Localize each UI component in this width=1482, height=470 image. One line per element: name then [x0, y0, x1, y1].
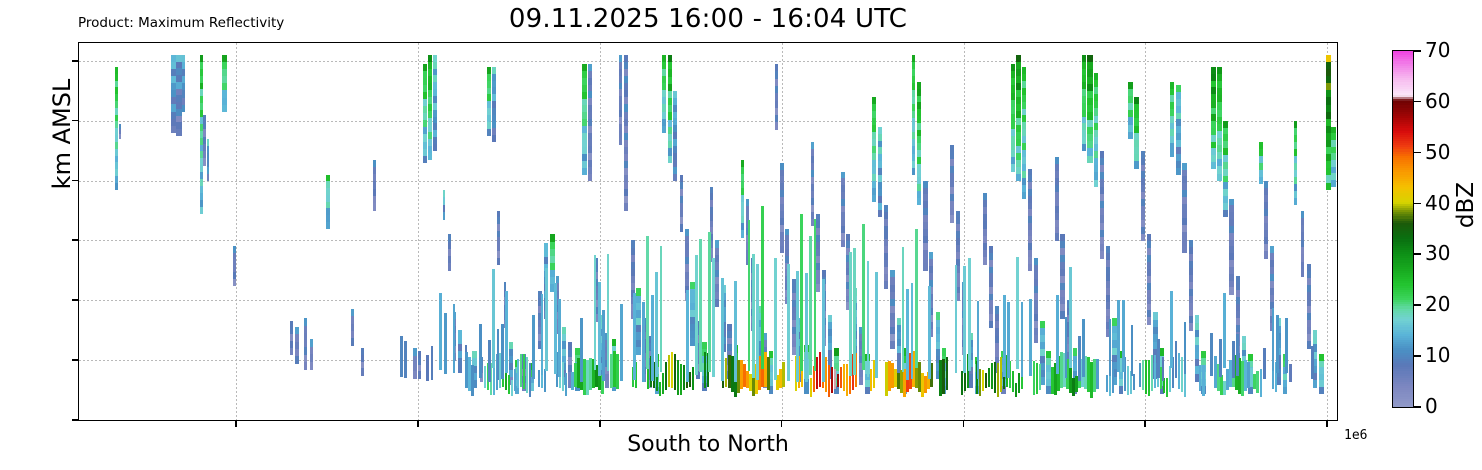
reflectivity-cell — [660, 246, 663, 372]
reflectivity-cell — [594, 255, 597, 370]
reflectivity-cell — [846, 364, 848, 396]
reflectivity-cell — [746, 371, 748, 388]
reflectivity-cell — [1028, 264, 1032, 271]
reflectivity-column — [458, 43, 462, 420]
reflectivity-cell — [1141, 234, 1145, 242]
reflectivity-cell — [994, 362, 996, 393]
reflectivity-cell — [571, 372, 573, 390]
reflectivity-cell — [1128, 132, 1132, 140]
reflectivity-column — [897, 43, 901, 420]
reflectivity-cell — [605, 380, 609, 387]
reflectivity-cell — [1219, 339, 1222, 378]
reflectivity-cell — [583, 359, 585, 395]
reflectivity-cell — [917, 198, 921, 205]
y-tick-mark — [72, 359, 78, 361]
reflectivity-cell — [834, 369, 836, 389]
reflectivity-cell — [961, 371, 963, 396]
reflectivity-cell — [577, 358, 579, 388]
reflectivity-cell — [740, 360, 742, 389]
reflectivity-cell — [853, 248, 856, 375]
colorbar-tick-label: 50 — [1425, 140, 1450, 164]
reflectivity-cell — [1301, 269, 1305, 277]
reflectivity-cell — [488, 340, 491, 382]
reflectivity-cell — [310, 362, 312, 370]
reflectivity-cell — [439, 293, 442, 370]
reflectivity-cell — [1021, 302, 1024, 377]
reflectivity-cell — [1015, 383, 1017, 397]
reflectivity-cell — [767, 357, 769, 390]
reflectivity-cell — [1119, 386, 1123, 394]
reflectivity-column — [448, 43, 451, 420]
reflectivity-cell — [433, 144, 437, 151]
reflectivity-cell — [890, 341, 894, 349]
reflectivity-cell — [1094, 180, 1099, 188]
radar-profile-figure: Product: Maximum Reflectivity 09.11.2025… — [0, 0, 1482, 470]
reflectivity-cell — [837, 374, 839, 388]
reflectivity-cell — [982, 370, 984, 392]
reflectivity-cell — [796, 271, 799, 382]
reflectivity-cell — [1072, 378, 1074, 397]
reflectivity-cell — [326, 222, 330, 229]
reflectivity-cell — [1133, 374, 1135, 390]
reflectivity-cell — [900, 370, 902, 393]
reflectivity-cell — [404, 341, 407, 378]
reflectivity-cell — [819, 352, 821, 387]
reflectivity-cell — [721, 278, 724, 381]
reflectivity-cell — [787, 264, 790, 381]
reflectivity-cell — [517, 359, 519, 387]
reflectivity-cell — [487, 129, 491, 136]
reflectivity-cell — [728, 355, 730, 388]
reflectivity-cell — [775, 122, 778, 130]
reflectivity-cell — [1096, 359, 1098, 389]
reflectivity-cell — [1039, 364, 1041, 390]
reflectivity-cell — [1307, 341, 1311, 349]
reflectivity-cell — [589, 358, 591, 391]
reflectivity-cell — [290, 348, 293, 355]
reflectivity-cell — [662, 126, 666, 134]
reflectivity-column — [1201, 43, 1205, 420]
colorbar-tick-label: 10 — [1425, 343, 1450, 367]
reflectivity-cell — [1260, 369, 1262, 397]
reflectivity-cell — [1176, 168, 1181, 176]
reflectivity-cell — [1253, 374, 1255, 389]
y-tick-mark — [72, 180, 78, 182]
reflectivity-cell — [610, 354, 612, 388]
x-tick-mark — [1326, 421, 1328, 427]
reflectivity-cell — [1313, 380, 1317, 388]
reflectivity-cell — [1069, 368, 1071, 393]
reflectivity-cell — [689, 372, 691, 387]
reflectivity-cell — [867, 261, 870, 377]
reflectivity-cell — [1220, 375, 1222, 395]
reflectivity-cell — [642, 302, 645, 382]
x-tick-mark — [417, 421, 419, 427]
reflectivity-column — [878, 43, 882, 420]
colorbar-tick-mark — [1414, 304, 1421, 306]
reflectivity-cell — [1283, 387, 1287, 394]
reflectivity-cell — [968, 258, 971, 371]
reflectivity-cell — [1170, 150, 1174, 157]
reflectivity-cell — [859, 377, 863, 385]
y-tick-mark — [72, 239, 78, 241]
reflectivity-column — [418, 43, 421, 420]
reflectivity-cell — [1082, 144, 1087, 151]
reflectivity-cell — [1294, 198, 1297, 206]
colorbar-tick-label: 0 — [1425, 394, 1438, 418]
reflectivity-column — [1331, 43, 1335, 420]
reflectivity-cell — [1210, 333, 1213, 376]
reflectivity-cell — [708, 232, 711, 371]
reflectivity-column — [834, 43, 838, 420]
reflectivity-cell — [809, 236, 812, 375]
reflectivity-column — [351, 43, 354, 420]
reflectivity-column — [1195, 43, 1199, 420]
reflectivity-cell — [458, 365, 462, 373]
reflectivity-cell — [426, 355, 429, 381]
reflectivity-cell — [586, 360, 588, 395]
reflectivity-cell — [511, 380, 513, 396]
reflectivity-cell — [988, 368, 990, 387]
reflectivity-cell — [977, 301, 980, 379]
reflectivity-cell — [840, 367, 842, 388]
reflectivity-cell — [602, 310, 605, 381]
reflectivity-cell — [544, 369, 546, 392]
reflectivity-column — [983, 43, 987, 420]
reflectivity-cell — [921, 373, 923, 397]
colorbar[interactable] — [1392, 50, 1414, 408]
reflectivity-cell — [843, 364, 845, 391]
reflectivity-cell — [655, 272, 658, 376]
colorbar-tick-mark — [1414, 253, 1421, 255]
reflectivity-cell — [942, 359, 944, 395]
reflectivity-cell — [1117, 300, 1120, 372]
reflectivity-cell — [1056, 295, 1059, 374]
reflectivity-cell — [1003, 295, 1006, 377]
reflectivity-column — [1046, 43, 1050, 420]
reflectivity-cell — [991, 363, 993, 389]
reflectivity-cell — [1285, 318, 1288, 373]
reflectivity-cell — [1060, 352, 1062, 388]
reflectivity-cell — [222, 105, 227, 113]
reflectivity-cell — [373, 203, 377, 211]
reflectivity-cell — [624, 203, 628, 211]
reflectivity-column — [361, 43, 364, 420]
reflectivity-cell — [633, 293, 636, 380]
reflectivity-column — [1307, 43, 1311, 420]
reflectivity-cell — [351, 338, 354, 346]
reflectivity-column — [923, 43, 927, 420]
reflectivity-cell — [704, 352, 706, 388]
reflectivity-cell — [989, 321, 993, 328]
reflectivity-cell — [695, 255, 698, 375]
reflectivity-column — [1319, 43, 1323, 420]
plot-area[interactable] — [78, 42, 1338, 421]
reflectivity-cell — [1226, 369, 1228, 390]
reflectivity-cell — [443, 212, 446, 220]
reflectivity-cell — [468, 357, 470, 392]
reflectivity-cell — [715, 299, 719, 307]
reflectivity-cell — [955, 265, 958, 373]
reflectivity-cell — [1217, 174, 1222, 182]
x-axis-label: South to North — [78, 432, 1338, 457]
reflectivity-cell — [1236, 334, 1239, 377]
reflectivity-cell — [413, 371, 417, 379]
reflectivity-cell — [418, 371, 421, 378]
reflectivity-cell — [361, 368, 364, 375]
colorbar-tick-mark — [1414, 406, 1421, 408]
reflectivity-cell — [677, 360, 679, 394]
reflectivity-cell — [814, 219, 817, 371]
reflectivity-cell — [894, 369, 896, 387]
reflectivity-cell — [968, 380, 972, 387]
reflectivity-cell — [756, 264, 759, 380]
reflectivity-cell — [699, 239, 702, 372]
reflectivity-cell — [872, 195, 876, 203]
reflectivity-cell — [1154, 355, 1156, 388]
reflectivity-cell — [1229, 287, 1233, 294]
reflectivity-cell — [761, 206, 764, 369]
colorbar-tick-mark — [1414, 355, 1421, 357]
reflectivity-cell — [662, 373, 664, 394]
reflectivity-cell — [1199, 365, 1201, 391]
reflectivity-cell — [1082, 319, 1085, 377]
reflectivity-cell — [878, 210, 882, 218]
reflectivity-cell — [1016, 257, 1019, 369]
reflectivity-column — [828, 43, 832, 420]
reflectivity-cell — [671, 352, 673, 387]
reflectivity-cell — [888, 361, 890, 391]
reflectivity-cell — [1087, 357, 1089, 392]
reflectivity-cell — [902, 247, 905, 372]
reflectivity-cell — [928, 286, 931, 379]
colorbar-tick-mark — [1414, 152, 1421, 154]
reflectivity-cell — [588, 174, 592, 181]
reflectivity-cell — [1319, 387, 1323, 394]
reflectivity-cell — [1139, 363, 1141, 387]
reflectivity-cell — [1000, 357, 1002, 393]
reflectivity-cell — [774, 258, 777, 380]
reflectivity-cell — [207, 174, 210, 182]
reflectivity-cell — [1189, 323, 1193, 331]
reflectivity-cell — [233, 279, 236, 286]
reflectivity-cell — [1034, 335, 1038, 343]
reflectivity-cell — [1122, 300, 1125, 372]
reflectivity-cell — [532, 315, 535, 379]
reflectivity-cell — [918, 362, 920, 392]
reflectivity-cell — [1134, 161, 1138, 169]
reflectivity-cell — [906, 289, 909, 381]
reflectivity-cell — [1223, 210, 1228, 217]
reflectivity-cell — [1109, 319, 1112, 376]
reflectivity-cell — [1250, 368, 1252, 387]
reflectivity-cell — [737, 360, 739, 393]
reflectivity-cell — [497, 329, 500, 380]
reflectivity-cell — [1184, 322, 1187, 374]
reflectivity-cell — [1264, 251, 1268, 259]
reflectivity-cell — [1232, 341, 1235, 377]
reflectivity-cell — [911, 283, 914, 379]
reflectivity-column — [715, 43, 719, 420]
reflectivity-cell — [1162, 357, 1165, 381]
reflectivity-cell — [800, 214, 803, 371]
reflectivity-cell — [598, 282, 601, 375]
reflectivity-cell — [295, 356, 299, 364]
colorbar-band — [1393, 50, 1413, 53]
reflectivity-cell — [1142, 360, 1144, 390]
reflectivity-cell — [804, 386, 808, 393]
x-tick-mark — [781, 421, 783, 427]
reflectivity-column — [290, 43, 293, 420]
reflectivity-cell — [1036, 363, 1038, 394]
reflectivity-cell — [1178, 353, 1180, 389]
reflectivity-cell — [1069, 267, 1072, 368]
reflectivity-cell — [1029, 299, 1032, 376]
reflectivity-column — [1294, 43, 1297, 420]
reflectivity-cell — [523, 354, 525, 389]
reflectivity-cell — [912, 168, 916, 176]
reflectivity-cell — [448, 263, 451, 271]
reflectivity-column — [1100, 43, 1104, 420]
reflectivity-cell — [1078, 336, 1081, 381]
reflectivity-cell — [810, 378, 812, 398]
reflectivity-cell — [939, 360, 941, 396]
reflectivity-cell — [849, 252, 852, 376]
reflectivity-cell — [497, 258, 501, 265]
reflectivity-cell — [725, 358, 727, 387]
reflectivity-cell — [529, 363, 531, 397]
reflectivity-cell — [582, 168, 587, 176]
reflectivity-cell — [683, 365, 685, 390]
reflectivity-cell — [659, 382, 661, 396]
reflectivity-cell — [613, 351, 615, 387]
reflectivity-cell — [514, 369, 516, 391]
reflectivity-cell — [119, 134, 121, 140]
reflectivity-cell — [985, 373, 987, 388]
reflectivity-column — [950, 43, 954, 420]
reflectivity-cell — [1311, 346, 1314, 379]
reflectivity-cell — [1259, 177, 1263, 185]
reflectivity-cell — [574, 363, 576, 387]
colorbar-tick-label: 40 — [1425, 191, 1450, 215]
reflectivity-cell — [862, 224, 865, 370]
reflectivity-cell — [520, 354, 522, 387]
reflectivity-cell — [453, 304, 456, 373]
reflectivity-cell — [1145, 360, 1147, 394]
reflectivity-cell — [963, 266, 966, 373]
reflectivity-cell — [1211, 162, 1216, 169]
reflectivity-cell — [607, 254, 610, 371]
reflectivity-cell — [950, 215, 954, 223]
reflectivity-cell — [1170, 291, 1173, 368]
reflectivity-cell — [885, 362, 887, 396]
reflectivity-column — [509, 43, 513, 420]
reflectivity-cell — [1223, 381, 1225, 395]
reflectivity-cell — [734, 281, 737, 382]
reflectivity-cell — [924, 376, 926, 393]
reflectivity-cell — [1022, 192, 1026, 200]
reflectivity-cell — [831, 367, 833, 394]
reflectivity-cell — [1090, 362, 1092, 398]
reflectivity-cell — [619, 138, 622, 146]
reflectivity-cell — [674, 354, 676, 390]
reflectivity-cell — [915, 229, 918, 368]
x-tick-mark — [1144, 421, 1146, 427]
reflectivity-column — [433, 43, 437, 420]
colorbar-tick-mark — [1414, 203, 1421, 205]
reflectivity-cell — [673, 174, 677, 182]
reflectivity-cell — [870, 369, 872, 391]
reflectivity-cell — [444, 313, 447, 374]
reflectivity-cell — [1065, 317, 1068, 378]
reflectivity-cell — [471, 365, 473, 396]
reflectivity-column — [304, 43, 307, 420]
reflectivity-cell — [1046, 386, 1050, 394]
reflectivity-cell — [423, 156, 427, 164]
reflectivity-cell — [841, 240, 845, 247]
reflectivity-column — [207, 43, 210, 420]
reflectivity-cell — [562, 362, 564, 391]
y-tick-mark — [72, 419, 78, 421]
reflectivity-cell — [1100, 251, 1104, 259]
reflectivity-cell — [1169, 366, 1171, 391]
reflectivity-cell — [665, 362, 667, 389]
reflectivity-cell — [1175, 341, 1178, 378]
colorbar-tick-label: 70 — [1425, 38, 1450, 62]
reflectivity-cell — [946, 357, 948, 390]
reflectivity-cell — [1263, 348, 1266, 379]
reflectivity-cell — [541, 294, 544, 375]
reflectivity-cell — [1331, 180, 1335, 187]
colorbar-tick-mark — [1414, 50, 1421, 52]
reflectivity-cell — [1244, 360, 1246, 391]
reflectivity-cell — [712, 258, 715, 376]
reflectivity-cell — [680, 224, 684, 232]
reflectivity-cell — [1202, 365, 1204, 396]
reflectivity-column — [1073, 43, 1077, 420]
colorbar-tick-label: 30 — [1425, 241, 1450, 265]
reflectivity-cell — [501, 324, 504, 379]
reflectivity-cell — [1272, 308, 1275, 371]
reflectivity-cell — [822, 279, 825, 383]
reflectivity-cell — [1147, 317, 1151, 325]
reflectivity-cell — [1012, 371, 1014, 392]
reflectivity-cell — [580, 318, 583, 382]
reflectivity-cell — [1051, 367, 1053, 395]
reflectivity-cell — [1016, 174, 1021, 182]
reflectivity-cell — [743, 364, 745, 387]
reflectivity-cell — [182, 105, 186, 113]
colorbar-label: dBZ — [1453, 145, 1479, 265]
reflectivity-cell — [646, 236, 649, 369]
reflectivity-column — [373, 43, 377, 420]
reflectivity-cell — [554, 283, 557, 373]
reflectivity-cell — [1087, 156, 1092, 164]
reflectivity-cell — [545, 268, 548, 370]
reflectivity-cell — [875, 272, 878, 378]
reflectivity-cell — [865, 387, 869, 394]
reflectivity-cell — [1247, 362, 1249, 387]
reflectivity-column — [119, 43, 121, 420]
reflectivity-cell — [668, 156, 672, 164]
reflectivity-cell — [983, 257, 987, 265]
reflectivity-column — [624, 43, 628, 420]
x-tick-mark — [963, 421, 965, 427]
colorbar-tick-label: 20 — [1425, 292, 1450, 316]
reflectivity-cell — [680, 364, 682, 395]
reflectivity-cell — [731, 356, 733, 392]
reflectivity-cell — [620, 304, 623, 381]
